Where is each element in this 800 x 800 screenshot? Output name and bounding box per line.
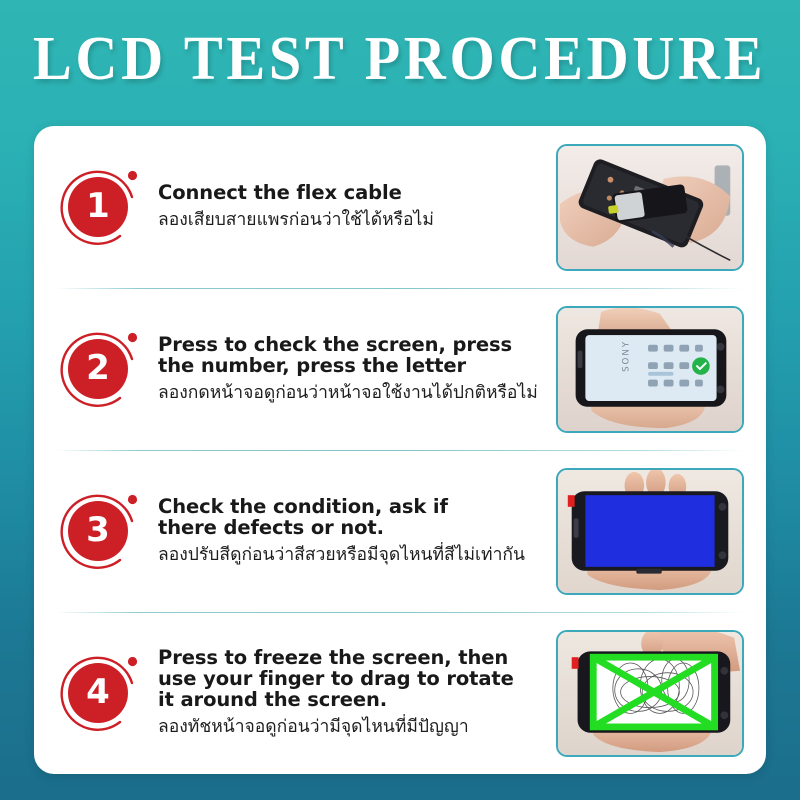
- step-badge: 4: [58, 650, 144, 736]
- photo-touch-drag-test-image: [558, 632, 742, 755]
- photo-touch-drag-test: [556, 630, 744, 757]
- step-title-th: ลองทัชหน้าจอดูก่อนว่ามีจุดไหนที่มีปัญญา: [158, 717, 548, 739]
- step-text: Press to freeze the screen, then use you…: [144, 647, 556, 739]
- step-row: 3 Check the condition, ask if there defe…: [34, 450, 766, 612]
- step-text: Connect the flex cable ลองเสียบสายแพรก่อ…: [144, 182, 556, 232]
- photo-blue-screen-test: [556, 468, 744, 595]
- step-title-th: ลองเสียบสายแพรก่อนว่าใช้ได้หรือไม่: [158, 210, 548, 232]
- step-text: Check the condition, ask if there defect…: [144, 496, 556, 567]
- steps-list: 1 Connect the flex cable ลองเสียบสายแพรก…: [34, 126, 766, 774]
- step-number: 4: [68, 663, 128, 723]
- step-title-th: ลองกดหน้าจอดูก่อนว่าหน้าจอใช้งานได้ปกติห…: [158, 383, 548, 405]
- step-title-en: Press to check the screen, press the num…: [158, 334, 548, 376]
- step-row: 1 Connect the flex cable ลองเสียบสายแพรก…: [34, 126, 766, 288]
- step-number: 1: [68, 177, 128, 237]
- step-text: Press to check the screen, press the num…: [144, 334, 556, 405]
- step-badge: 1: [58, 164, 144, 250]
- step-row: 2 Press to check the screen, press the n…: [34, 288, 766, 450]
- photo-dialer-keypad-test-image: SONY: [558, 308, 742, 431]
- svg-text:SONY: SONY: [621, 339, 631, 371]
- step-row: 4 Press to freeze the screen, then use y…: [34, 612, 766, 774]
- step-badge: 2: [58, 326, 144, 412]
- step-title-th: ลองปรับสีดูก่อนว่าสีสวยหรือมีจุดไหนที่สี…: [158, 545, 548, 567]
- header: LCD TEST PROCEDURE: [0, 0, 800, 118]
- page-title: LCD TEST PROCEDURE: [33, 28, 766, 91]
- procedure-card: 1 Connect the flex cable ลองเสียบสายแพรก…: [34, 126, 766, 774]
- step-number: 3: [68, 501, 128, 561]
- step-title-en: Press to freeze the screen, then use you…: [158, 647, 548, 710]
- photo-connect-flex-cable: [556, 144, 744, 271]
- step-number: 2: [68, 339, 128, 399]
- photo-dialer-keypad-test: SONY: [556, 306, 744, 433]
- photo-connect-flex-cable-image: [558, 146, 742, 269]
- step-badge: 3: [58, 488, 144, 574]
- step-title-en: Check the condition, ask if there defect…: [158, 496, 548, 538]
- photo-blue-screen-test-image: [558, 470, 742, 593]
- step-title-en: Connect the flex cable: [158, 182, 548, 203]
